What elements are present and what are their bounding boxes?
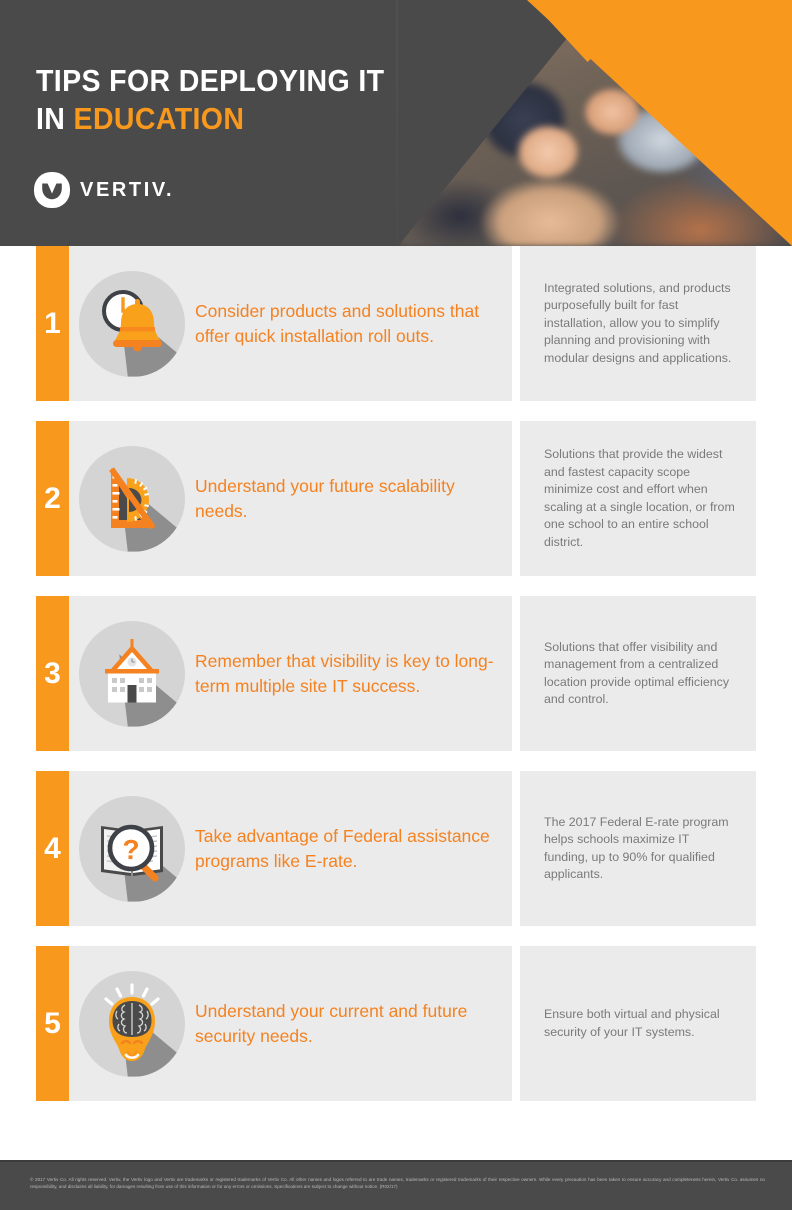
- tip-number-bar: 4: [36, 771, 69, 926]
- school-building-icon: [79, 621, 185, 727]
- svg-text:?: ?: [122, 834, 139, 865]
- tip-icon-wrapper: [69, 946, 195, 1101]
- tip-number: 2: [44, 484, 61, 514]
- tip-body-panel: The 2017 Federal E-rate program helps sc…: [520, 771, 756, 926]
- head-with-brain-icon: [79, 971, 185, 1077]
- tip-headline: Understand your future scalability needs…: [195, 474, 512, 524]
- tip-number-bar: 5: [36, 946, 69, 1101]
- tip-number: 1: [44, 309, 61, 339]
- tip-headline: Take advantage of Federal assistance pro…: [195, 824, 512, 874]
- tip-icon-wrapper: ?: [69, 771, 195, 926]
- tip-headline-panel: Understand your future scalability needs…: [69, 421, 512, 576]
- tip-icon-wrapper: [69, 246, 195, 401]
- page-title-line-2: IN EDUCATION: [36, 100, 432, 138]
- tip-body-panel: Integrated solutions, and products purpo…: [520, 246, 756, 401]
- tip-headline: Consider products and solutions that off…: [195, 299, 512, 349]
- tip-body-text: Solutions that offer visibility and mana…: [520, 639, 756, 709]
- vertiv-v-mark-icon: [34, 172, 70, 208]
- tip-headline-panel: ? Take advantage of Federal assistance p…: [69, 771, 512, 926]
- list-item: 4: [0, 771, 792, 926]
- tip-body-text: Ensure both virtual and physical securit…: [520, 1006, 756, 1041]
- page-title-line-2-accent: EDUCATION: [74, 101, 245, 136]
- tip-body-text: Integrated solutions, and products purpo…: [520, 280, 756, 368]
- tip-headline: Remember that visibility is key to long-…: [195, 649, 512, 699]
- tip-body-text: The 2017 Federal E-rate program helps sc…: [520, 814, 756, 884]
- tip-number: 4: [44, 834, 61, 864]
- vertiv-logo: VERTIV.: [34, 172, 174, 208]
- footer-bar: © 2017 Vertiv Co. All rights reserved. V…: [0, 1160, 792, 1210]
- legal-disclaimer: © 2017 Vertiv Co. All rights reserved. V…: [30, 1176, 765, 1191]
- list-item: 2: [0, 421, 792, 576]
- tip-headline-panel: Understand your current and future secur…: [69, 946, 512, 1101]
- list-item: 1: [0, 246, 792, 401]
- tip-number-bar: 3: [36, 596, 69, 751]
- book-with-magnifier-question-icon: ?: [79, 796, 185, 902]
- header-banner: TIPS FOR DEPLOYING IT IN EDUCATION VERTI…: [0, 0, 792, 246]
- tips-list: 1: [0, 246, 792, 1121]
- tip-number: 3: [44, 659, 61, 689]
- ruler-and-protractor-icon: [79, 446, 185, 552]
- infographic-page: TIPS FOR DEPLOYING IT IN EDUCATION VERTI…: [0, 0, 792, 1210]
- tip-number-bar: 2: [36, 421, 69, 576]
- tip-number-bar: 1: [36, 246, 69, 401]
- tip-body-panel: Ensure both virtual and physical securit…: [520, 946, 756, 1101]
- vertiv-logo-text: VERTIV.: [80, 179, 174, 202]
- tip-headline-panel: Remember that visibility is key to long-…: [69, 596, 512, 751]
- page-title-line-1: TIPS FOR DEPLOYING IT: [36, 62, 432, 100]
- tip-headline: Understand your current and future secur…: [195, 999, 512, 1049]
- tip-icon-wrapper: [69, 596, 195, 751]
- tip-body-text: Solutions that provide the widest and fa…: [520, 446, 756, 551]
- tip-body-panel: Solutions that offer visibility and mana…: [520, 596, 756, 751]
- tip-body-panel: Solutions that provide the widest and fa…: [520, 421, 756, 576]
- list-item: 5: [0, 946, 792, 1101]
- tip-headline-panel: Consider products and solutions that off…: [69, 246, 512, 401]
- page-title-line-2-prefix: IN: [36, 101, 74, 136]
- tip-number: 5: [44, 1009, 61, 1039]
- list-item: 3: [0, 596, 792, 751]
- tip-icon-wrapper: [69, 421, 195, 576]
- clock-and-bell-icon: [79, 271, 185, 377]
- page-title: TIPS FOR DEPLOYING IT IN EDUCATION: [36, 62, 432, 138]
